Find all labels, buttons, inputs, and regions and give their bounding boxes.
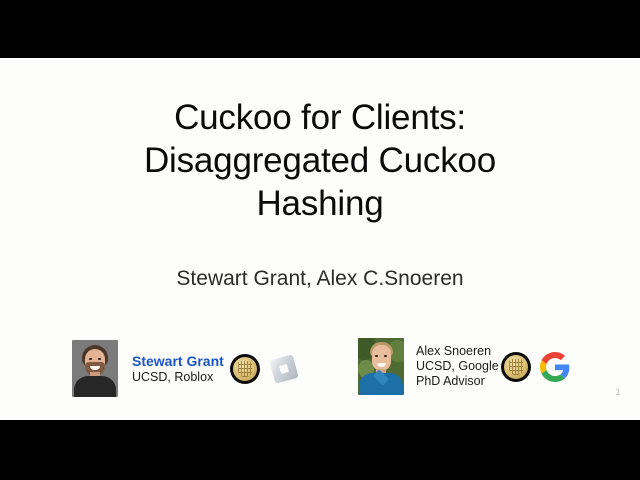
alex-snoeren-headshot [358,338,404,395]
letterbox-bar-top [0,0,640,58]
alex-snoeren-logos [501,352,570,382]
slide-authors-line: Stewart Grant, Alex C.Snoeren [0,266,640,292]
alex-snoeren-role: PhD Advisor [416,374,499,389]
stewart-grant-text-block: Stewart Grant UCSD, Roblox [132,353,224,385]
author-card-stewart-grant: Stewart Grant UCSD, Roblox [72,340,299,397]
alex-snoeren-text-block: Alex Snoeren UCSD, Google PhD Advisor [416,344,499,389]
roblox-logo-icon [269,354,299,384]
stewart-grant-affiliation: UCSD, Roblox [132,370,224,385]
slide-page-number: 1 [608,387,628,398]
alex-snoeren-affiliation: UCSD, Google [416,359,499,374]
alex-snoeren-name: Alex Snoeren [416,344,499,359]
google-logo-icon [540,352,570,382]
ucsd-seal-icon [501,352,531,382]
stewart-grant-logos [230,354,299,384]
ucsd-seal-icon [230,354,260,384]
letterbox-bar-bottom [0,420,640,480]
presentation-slide: Cuckoo for Clients: Disaggregated Cuckoo… [0,58,640,420]
stewart-grant-name: Stewart Grant [132,353,224,370]
video-frame: Cuckoo for Clients: Disaggregated Cuckoo… [0,0,640,480]
stewart-grant-headshot [72,340,118,397]
slide-title: Cuckoo for Clients: Disaggregated Cuckoo… [0,96,640,225]
author-card-alex-snoeren: Alex Snoeren UCSD, Google PhD Advisor [358,338,570,395]
